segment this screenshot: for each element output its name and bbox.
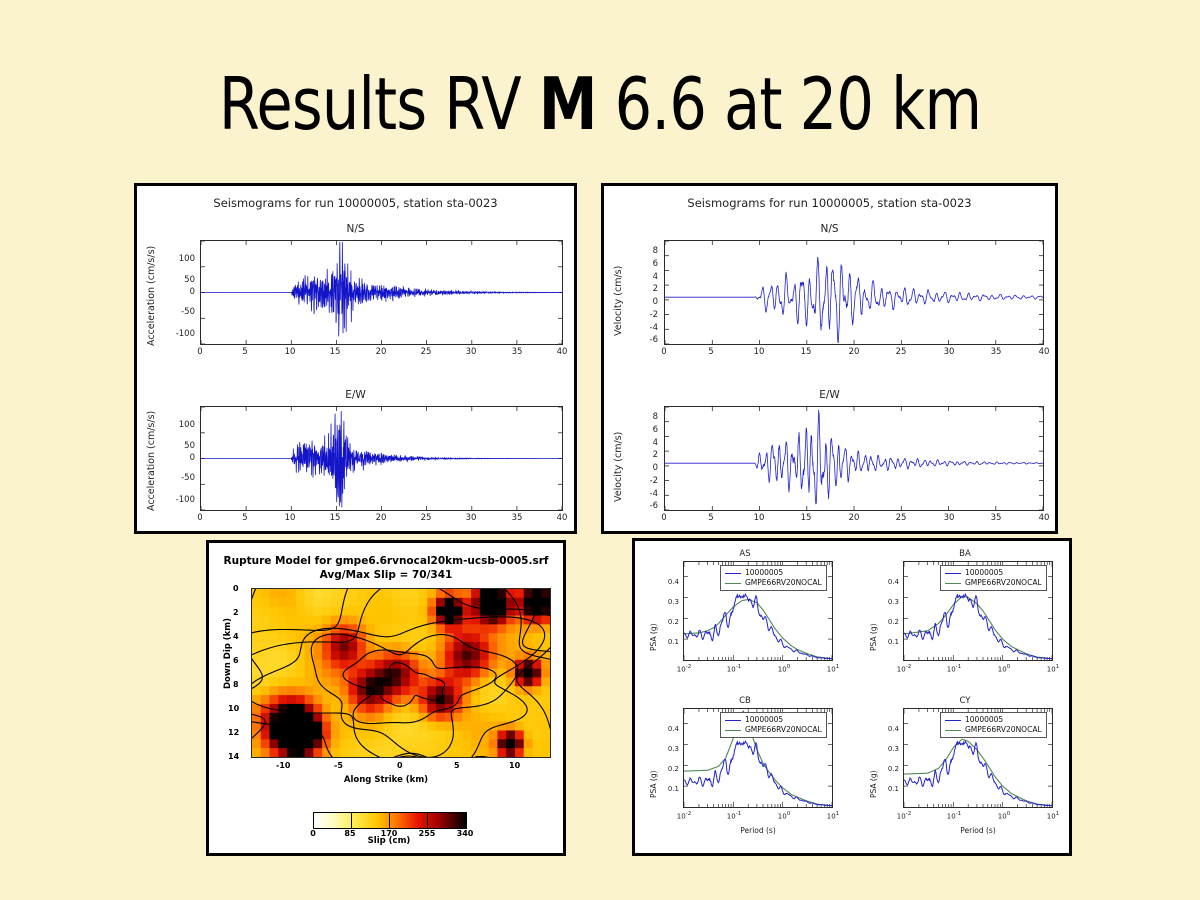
psa-ba-ytick-04: 0.4 [877,578,899,586]
acceleration-ew-axes [200,406,563,511]
acc-ew-xtick-15: 15 [325,513,345,523]
acceleration-figure-title: Seismograms for run 10000005, station st… [137,196,574,210]
legend-label-simulation: 10000005 [745,568,783,578]
vel-ns-ytick-m6: -6 [634,335,658,345]
vel-ew-ytick-m2: -2 [634,476,658,486]
rupture-title-line2: Avg/Max Slip = 70/341 [209,569,563,581]
legend-row-simulation: 10000005 [725,568,822,578]
velocity-figure-title: Seismograms for run 10000005, station st… [604,196,1055,210]
legend-row-gmpe: GMPE66RV20NOCAL [725,578,822,588]
vel-ns-xtick-20: 20 [844,347,864,357]
acc-ew-xtick-35: 35 [507,513,527,523]
psa-cb-title: CB [645,696,845,706]
colorbar-divider-2 [389,813,390,828]
acc-ns-ytick-m50: -50 [161,307,195,317]
acc-ns-xtick-20: 20 [371,347,391,357]
vel-ns-xtick-5: 5 [701,347,721,357]
psa-ba-xtick-1e1: 101 [1041,664,1065,673]
acc-ns-ytick-50: 50 [161,275,195,285]
vel-ew-xtick-35: 35 [986,513,1006,523]
legend-row-simulation: 10000005 [945,715,1042,725]
acc-ns-xtick-10: 10 [280,347,300,357]
acc-ns-ytick-0: 0 [161,287,195,297]
acc-ew-xtick-5: 5 [235,513,255,523]
psa-cb-xtick-1e0: 100 [772,811,796,820]
acc-ns-ytick-m100: -100 [161,329,195,339]
psa-cb-xlabel: Period (s) [683,826,833,835]
vel-ns-ytick-m2: -2 [634,310,658,320]
vel-ew-ytick-8: 8 [634,412,658,422]
acc-ns-xtick-40: 40 [552,347,572,357]
acc-ew-xtick-0: 0 [190,513,210,523]
acceleration-ew-ylabel: Acceleration (cm/s/s) [146,411,157,511]
vel-ew-xtick-15: 15 [796,513,816,523]
rup-xtick-m5: -5 [334,761,343,770]
legend-row-simulation: 10000005 [725,715,822,725]
psa-cy-legend: 10000005 GMPE66RV20NOCAL [940,712,1047,738]
psa-comparison-panel: AS PSA (g) 0.4 0.3 0.2 0.1 10-2 10-1 100… [632,538,1072,856]
psa-as-xtick-1e-1: 10-1 [722,664,746,673]
vel-ew-xtick-10: 10 [749,513,769,523]
vel-ew-xtick-5: 5 [701,513,721,523]
psa-cb-ytick-03: 0.3 [657,745,679,753]
legend-row-gmpe: GMPE66RV20NOCAL [725,725,822,735]
rup-ytick-0: 0 [233,584,239,593]
vel-ew-ytick-m4: -4 [634,489,658,499]
rupture-slip-heatmap [251,588,551,758]
rupture-model-panel: Rupture Model for gmpe6.6rvnocal20km-ucs… [206,540,566,856]
vel-ew-xtick-30: 30 [939,513,959,523]
rupture-title-line1: Rupture Model for gmpe6.6rvnocal20km-ucs… [209,555,563,567]
acc-ns-xtick-15: 15 [325,347,345,357]
vel-ns-ytick-2: 2 [634,284,658,294]
psa-cy-xtick-1e-2: 10-2 [892,811,916,820]
rup-xtick-5: 5 [454,761,460,770]
acc-ns-xtick-25: 25 [416,347,436,357]
psa-as-title: AS [645,549,845,559]
psa-cb-ytick-04: 0.4 [657,725,679,733]
legend-line-blue-icon [725,720,741,721]
colorbar-label: Slip (cm) [313,836,465,846]
psa-as-ytick-01: 0.1 [657,638,679,646]
rup-xtick-m10: -10 [276,761,290,770]
psa-cb-xtick-1e-1: 10-1 [722,811,746,820]
acc-ns-xtick-5: 5 [235,347,255,357]
acc-ew-ytick-100: 100 [161,420,195,430]
title-prefix: Results RV [219,62,539,146]
acc-ew-ytick-50: 50 [161,441,195,451]
vel-ns-xtick-40: 40 [1034,347,1054,357]
vel-ew-ytick-2: 2 [634,450,658,460]
acc-ew-xtick-40: 40 [552,513,572,523]
legend-line-green-icon [725,583,741,584]
vel-ns-xtick-35: 35 [986,347,1006,357]
psa-cy-xtick-1e0: 100 [992,811,1016,820]
acc-ns-xtick-30: 30 [461,347,481,357]
vel-ns-xtick-30: 30 [939,347,959,357]
vel-ns-xtick-0: 0 [654,347,674,357]
psa-ba-xtick-1e0: 100 [992,664,1016,673]
velocity-seismogram-panel: Seismograms for run 10000005, station st… [601,183,1058,534]
acceleration-ns-ylabel: Acceleration (cm/s/s) [146,246,157,346]
psa-cb-xtick-1e-2: 10-2 [672,811,696,820]
velocity-ns-ylabel: Velocity (cm/s) [613,266,624,336]
psa-cy-xtick-1e1: 101 [1041,811,1065,820]
psa-as-xtick-1e1: 101 [821,664,845,673]
vel-ew-ytick-0: 0 [634,463,658,473]
slide-canvas: Results RV M 6.6 at 20 km Seismograms fo… [0,0,1200,900]
legend-line-blue-icon [945,720,961,721]
psa-ba-ytick-02: 0.2 [877,618,899,626]
psa-as-legend: 10000005 GMPE66RV20NOCAL [720,565,827,591]
rup-ytick-14: 14 [228,752,239,761]
rup-ytick-4: 4 [233,632,239,641]
vel-ew-ytick-6: 6 [634,425,658,435]
vel-ew-ytick-4: 4 [634,438,658,448]
vel-ns-ytick-4: 4 [634,272,658,282]
legend-line-blue-icon [725,573,741,574]
psa-as-xtick-1e-2: 10-2 [672,664,696,673]
colorbar-divider-3 [427,813,428,828]
acc-ew-xtick-30: 30 [461,513,481,523]
psa-cb-ytick-02: 0.2 [657,765,679,773]
legend-label-gmpe: GMPE66RV20NOCAL [965,578,1042,588]
vel-ew-xtick-0: 0 [654,513,674,523]
velocity-ew-ylabel: Velocity (cm/s) [613,432,624,502]
legend-line-green-icon [725,730,741,731]
legend-row-gmpe: GMPE66RV20NOCAL [945,725,1042,735]
vel-ns-ytick-m4: -4 [634,323,658,333]
legend-label-gmpe: GMPE66RV20NOCAL [965,725,1042,735]
acceleration-seismogram-panel: Seismograms for run 10000005, station st… [134,183,577,534]
psa-ba-title: BA [865,549,1065,559]
colorbar-divider-1 [351,813,352,828]
psa-as-xtick-1e0: 100 [772,664,796,673]
acc-ns-xtick-35: 35 [507,347,527,357]
vel-ns-ytick-0: 0 [634,297,658,307]
acceleration-ew-subtitle: E/W [137,389,574,401]
acc-ew-ytick-m50: -50 [161,473,195,483]
psa-ba-xtick-1e-2: 10-2 [892,664,916,673]
psa-ba-xtick-1e-1: 10-1 [942,664,966,673]
title-suffix: 6.6 at 20 km [597,62,981,146]
vel-ns-ytick-6: 6 [634,259,658,269]
rup-xtick-0: 0 [397,761,403,770]
psa-cy-ytick-02: 0.2 [877,765,899,773]
slip-colorbar [313,812,467,829]
psa-cb-ytick-01: 0.1 [657,785,679,793]
legend-row-gmpe: GMPE66RV20NOCAL [945,578,1042,588]
rup-xtick-10: 10 [509,761,520,770]
vel-ew-ytick-m6: -6 [634,501,658,511]
rupture-xlabel: Along Strike (km) [209,775,563,785]
acceleration-ns-axes [200,240,563,345]
vel-ns-ytick-8: 8 [634,246,658,256]
psa-cy-title: CY [865,696,1065,706]
velocity-ns-axes [664,240,1044,345]
acc-ew-xtick-20: 20 [371,513,391,523]
vel-ns-xtick-10: 10 [749,347,769,357]
rup-ytick-2: 2 [233,608,239,617]
psa-as-ytick-04: 0.4 [657,578,679,586]
psa-as-ytick-03: 0.3 [657,598,679,606]
acc-ew-ytick-m100: -100 [161,495,195,505]
page-title: Results RV M 6.6 at 20 km [108,68,1092,140]
psa-ba-legend: 10000005 GMPE66RV20NOCAL [940,565,1047,591]
psa-cy-xtick-1e-1: 10-1 [942,811,966,820]
psa-cb-legend: 10000005 GMPE66RV20NOCAL [720,712,827,738]
vel-ns-xtick-25: 25 [891,347,911,357]
vel-ew-xtick-20: 20 [844,513,864,523]
rup-ytick-8: 8 [233,680,239,689]
psa-as-ytick-02: 0.2 [657,618,679,626]
legend-label-simulation: 10000005 [965,568,1003,578]
acc-ns-ytick-100: 100 [161,254,195,264]
rup-ytick-10: 10 [228,704,239,713]
legend-line-blue-icon [945,573,961,574]
psa-ba-ytick-01: 0.1 [877,638,899,646]
title-magnitude-symbol: M [539,62,597,146]
psa-ba-ytick-03: 0.3 [877,598,899,606]
vel-ns-xtick-15: 15 [796,347,816,357]
velocity-ns-subtitle: N/S [604,223,1055,235]
psa-cy-ytick-04: 0.4 [877,725,899,733]
legend-label-simulation: 10000005 [745,715,783,725]
rupture-ylabel: Down Dip (km) [223,618,233,689]
psa-cb-xtick-1e1: 101 [821,811,845,820]
legend-label-simulation: 10000005 [965,715,1003,725]
acc-ns-xtick-0: 0 [190,347,210,357]
velocity-ew-axes [664,406,1044,511]
psa-cy-ytick-03: 0.3 [877,745,899,753]
legend-label-gmpe: GMPE66RV20NOCAL [745,725,822,735]
vel-ew-xtick-25: 25 [891,513,911,523]
legend-line-green-icon [945,730,961,731]
psa-cy-xlabel: Period (s) [903,826,1053,835]
acc-ew-xtick-10: 10 [280,513,300,523]
acc-ew-xtick-25: 25 [416,513,436,523]
legend-row-simulation: 10000005 [945,568,1042,578]
velocity-ew-subtitle: E/W [604,389,1055,401]
rup-ytick-12: 12 [228,728,239,737]
acc-ew-ytick-0: 0 [161,453,195,463]
legend-line-green-icon [945,583,961,584]
rup-ytick-6: 6 [233,656,239,665]
psa-cy-ytick-01: 0.1 [877,785,899,793]
legend-label-gmpe: GMPE66RV20NOCAL [745,578,822,588]
vel-ew-xtick-40: 40 [1034,513,1054,523]
acceleration-ns-subtitle: N/S [137,223,574,235]
